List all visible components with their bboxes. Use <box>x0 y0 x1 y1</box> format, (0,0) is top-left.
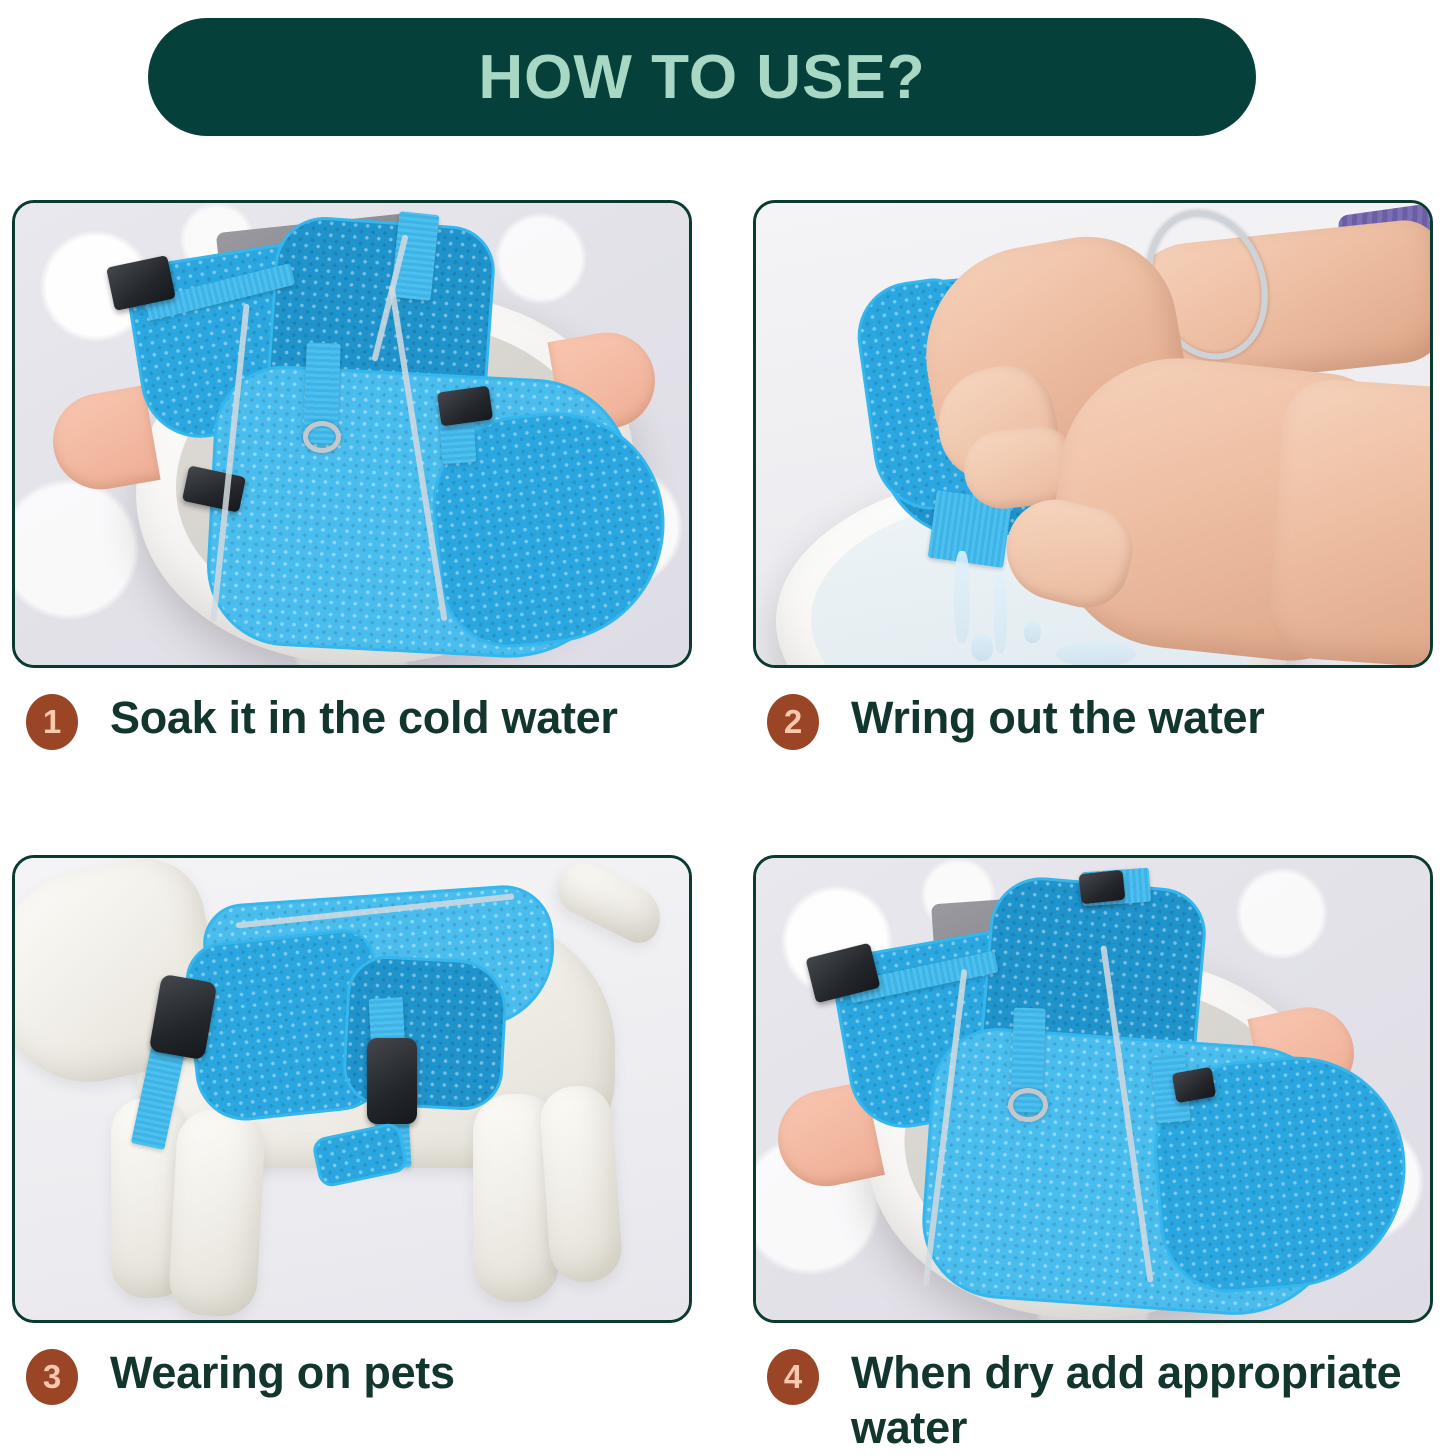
step-caption-4: 4 When dry add appropriate water <box>753 1345 1433 1456</box>
step-caption-1: 1 Soak it in the cold water <box>12 690 692 750</box>
step-card-2: 2 Wring out the water <box>753 200 1433 750</box>
water-droplet-2 <box>1024 621 1041 643</box>
water-splash <box>1056 641 1136 667</box>
steps-grid: 1 Soak it in the cold water <box>0 170 1445 1445</box>
d-ring-2 <box>1008 1088 1048 1122</box>
header-banner: HOW TO USE? <box>148 18 1256 136</box>
step-number-badge-2: 2 <box>767 694 819 750</box>
step-photo-4 <box>753 855 1433 1323</box>
dog-mannequin-wearing-harness-illustration <box>15 858 689 1320</box>
step-caption-text-1: Soak it in the cold water <box>110 690 618 745</box>
step-photo-2 <box>753 200 1433 668</box>
step-caption-text-3: Wearing on pets <box>110 1345 455 1400</box>
step-photo-3 <box>12 855 692 1323</box>
harness-soaking-in-basin-illustration <box>15 203 689 665</box>
harness-rear-buckle <box>437 386 493 427</box>
worn-harness-belly-buckle <box>367 1038 417 1124</box>
water-stream-1 <box>954 551 970 643</box>
hands-wringing-harness-illustration <box>756 203 1430 665</box>
dog-hind-leg-far <box>538 1084 623 1285</box>
harness-in-basin-adding-water-illustration <box>756 858 1430 1320</box>
step-caption-text-4: When dry add appropriate water <box>851 1345 1431 1456</box>
step-number-badge-4: 4 <box>767 1349 819 1405</box>
step-number-badge-1: 1 <box>26 694 78 750</box>
water-stream-2 <box>994 575 1007 653</box>
d-ring <box>303 421 341 453</box>
step-card-3: 3 Wearing on pets <box>12 855 692 1405</box>
step-caption-2: 2 Wring out the water <box>753 690 1433 750</box>
step-caption-3: 3 Wearing on pets <box>12 1345 692 1405</box>
step-caption-text-2: Wring out the water <box>851 690 1264 745</box>
water-droplet-1 <box>971 633 993 661</box>
dog-front-leg-far <box>168 1108 267 1318</box>
harness-top-buckle-2 <box>1079 870 1126 904</box>
step-number-badge-3: 3 <box>26 1349 78 1405</box>
right-hand-wrist <box>1266 376 1433 668</box>
step-card-4: 4 When dry add appropriate water <box>753 855 1433 1456</box>
step-card-1: 1 Soak it in the cold water <box>12 200 692 750</box>
step-photo-1 <box>12 200 692 668</box>
page-title: HOW TO USE? <box>478 42 925 113</box>
